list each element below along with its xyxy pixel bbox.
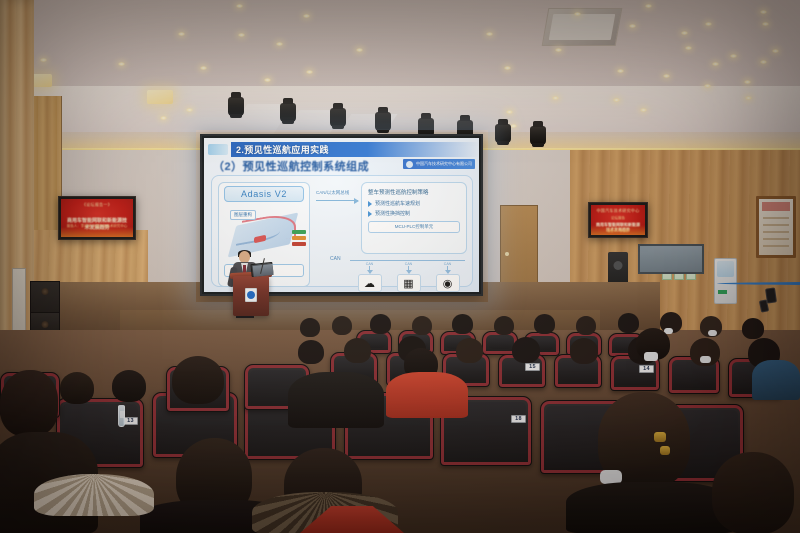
map-legend — [292, 230, 306, 246]
ceiling-ac-vent — [542, 8, 623, 46]
audience-head — [534, 314, 555, 334]
podium-sign — [245, 288, 257, 302]
strategy-item: 预测性巡航车速规划 — [368, 200, 460, 207]
adasis-title-box: Adasis V2 — [224, 186, 304, 202]
left-led-banner-screen: 《论坛报告一》 商用车智能网联和新能源技术发展趋势 报告人：李某某 中国汽车技术… — [58, 196, 136, 240]
audience-head — [456, 338, 483, 363]
audience-jacket-red — [386, 372, 468, 418]
audience-head — [300, 318, 320, 337]
conference-hall-photo: 2.预见性巡航应用实践 （2）预见性巡航控制系统组成 中国汽车技术研究中心有限公… — [0, 0, 800, 533]
mcu-unit-box: MCU-PLC控制单元 — [368, 221, 460, 233]
audience-head — [0, 370, 58, 436]
stage-light — [280, 103, 296, 122]
audience-shoulders — [566, 482, 736, 533]
audience-head — [512, 337, 540, 363]
seat-number: 13 — [123, 417, 138, 425]
face-mask — [700, 356, 711, 363]
slide-org-logo: 中国汽车技术研究中心有限公司 — [403, 159, 475, 169]
control-strategy-heading: 整车预测性巡航控制策略 — [368, 188, 460, 196]
stage-light — [228, 97, 244, 116]
audience-head — [172, 356, 224, 404]
stage-light — [330, 108, 346, 127]
slide-section-title-band: 2.预见性巡航应用实践 — [231, 142, 479, 157]
fur-collar — [34, 474, 154, 516]
wall-whiteboard — [638, 244, 704, 274]
can-link-label: CAN/以太网总线 — [316, 190, 349, 196]
seat-number: 18 — [511, 415, 526, 423]
right-led-banner-screen: 中国汽车技术研究中心 论坛报告 商用车智能网联和新能源技术发展趋势 报告人：李某… — [588, 202, 648, 238]
audience-head — [712, 452, 794, 533]
slide-subtitle: （2）预见性巡航控制系统组成 — [213, 158, 369, 174]
audience-jacket-dark — [288, 372, 384, 428]
wall-mounted-equipment — [608, 252, 628, 286]
audience-head — [742, 318, 764, 339]
face-mask — [708, 330, 717, 336]
brake-icon: ◉ — [436, 274, 460, 292]
strategy-item: 预测性换挡控制 — [368, 210, 460, 217]
audience-jacket — [752, 360, 800, 400]
org-logo-text: 中国汽车技术研究中心有限公司 — [416, 161, 472, 167]
strategy-item-label: 预测性巡航车速规划 — [375, 200, 420, 207]
audience-head — [618, 313, 639, 333]
water-dispenser — [714, 258, 737, 304]
left-banner-header: 《论坛报告一》 — [82, 202, 112, 208]
square-ceiling-light — [147, 90, 173, 104]
slide-section-title: 2.预见性巡航应用实践 — [231, 143, 329, 156]
right-banner-badge: 论坛报告 — [611, 216, 625, 221]
arrow-down-icon — [408, 266, 409, 273]
map-layer-label: 图层重构 — [230, 210, 256, 220]
audience-head — [332, 316, 352, 335]
notice-board — [756, 196, 796, 258]
audience-head — [412, 316, 432, 335]
amt-icon: ▦ — [397, 274, 421, 292]
bullet-triangle-icon — [368, 201, 372, 207]
slide-logo-mark — [208, 144, 228, 155]
strategy-item-label: 预测性换挡控制 — [375, 210, 410, 217]
arrow-right-icon — [316, 200, 358, 201]
ecu-node: CAN ▦ AMT — [392, 262, 426, 292]
hair-clip — [660, 446, 670, 455]
audience-head — [370, 314, 391, 334]
square-ceiling-light — [32, 74, 52, 87]
audience-head — [60, 372, 94, 404]
audience-head — [298, 340, 324, 364]
audience-head — [576, 316, 596, 335]
audience-head — [494, 316, 514, 335]
mcu-unit-label: MCU-PLC控制单元 — [395, 224, 434, 230]
stage-light — [495, 124, 511, 143]
seat-number: 15 — [525, 363, 540, 371]
can-bus-line — [350, 260, 465, 261]
audience-head — [112, 370, 146, 402]
audience-head — [570, 338, 598, 364]
can-bus-label: CAN — [330, 256, 341, 262]
bullet-triangle-icon — [368, 211, 372, 217]
audience-head — [344, 338, 371, 363]
adasis-title: Adasis V2 — [241, 189, 287, 199]
slide-header: 2.预见性巡航应用实践 — [204, 141, 479, 158]
arrow-down-icon — [447, 266, 448, 273]
seat-number: 14 — [639, 365, 654, 373]
control-strategy-panel: 整车预测性巡航控制策略 预测性巡航车速规划 预测性换挡控制 MCU-PLC控制单… — [361, 182, 467, 254]
smartphone[interactable] — [765, 287, 777, 303]
audience-head — [452, 314, 473, 334]
stage-light — [375, 112, 391, 131]
water-bottle — [118, 405, 125, 427]
right-banner-logo: 中国汽车技术研究中心 — [597, 208, 640, 214]
hair-clip — [654, 432, 666, 442]
ecu-node-row: CAN ☁ 发动机 CAN ▦ AMT CAN ◉ 缓速器 — [350, 262, 467, 292]
org-logo-icon — [406, 161, 413, 168]
ecu-node: CAN ☁ 发动机 — [353, 262, 387, 292]
ecu-node: CAN ◉ 缓速器 — [431, 262, 465, 292]
stage-light — [530, 126, 546, 145]
face-mask — [644, 352, 658, 361]
engine-icon: ☁ — [358, 274, 382, 292]
arrow-down-icon — [369, 266, 370, 273]
